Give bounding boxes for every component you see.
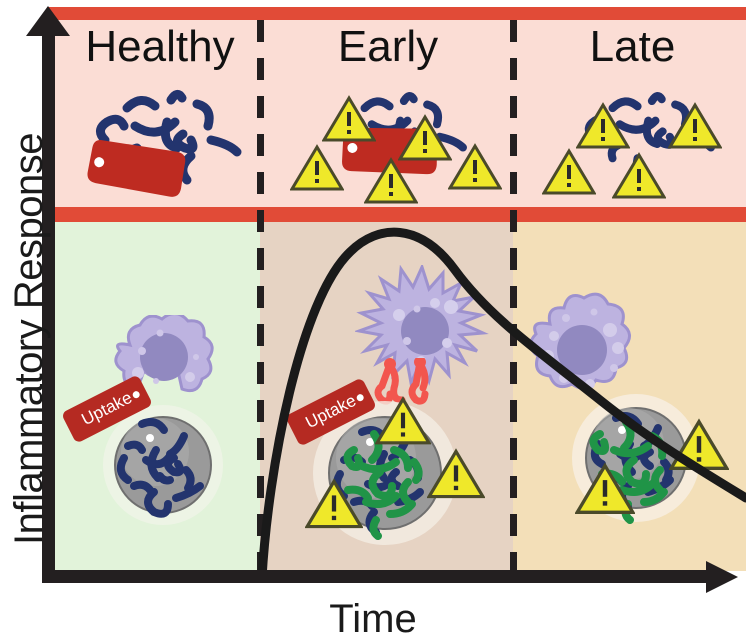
warning-triangle-icon <box>290 144 344 192</box>
warning-triangle-icon <box>427 448 485 500</box>
warning-triangle-icon <box>305 478 363 530</box>
x-axis-line <box>42 570 720 583</box>
stage-divider-healthy-early <box>257 20 264 571</box>
warning-triangle-icon <box>576 102 630 150</box>
warning-triangle-icon <box>375 396 431 446</box>
warning-triangle-icon <box>542 148 596 196</box>
inflammatory-response-schematic: Uptake <box>0 0 746 644</box>
warning-triangle-icon <box>398 114 452 162</box>
x-axis-label: Time <box>0 596 746 642</box>
strip-bottom-bar <box>47 207 746 222</box>
y-axis-arrow-icon <box>26 6 70 36</box>
warning-triangle-icon <box>448 143 502 191</box>
stage-title-early: Early <box>268 18 508 76</box>
warning-triangle-icon <box>612 152 666 200</box>
x-axis-arrow-icon <box>706 561 738 593</box>
stage-divider-early-late <box>510 20 517 571</box>
warning-triangle-icon <box>364 157 418 205</box>
warning-triangle-icon <box>322 95 376 143</box>
warning-triangle-icon <box>575 462 635 516</box>
stage-title-healthy: Healthy <box>60 18 260 76</box>
red-tag-healthy-icon <box>85 135 195 197</box>
stage-title-late: Late <box>520 18 745 76</box>
y-axis-label: Inflammatory Response <box>6 79 52 599</box>
warning-triangle-icon <box>669 418 729 472</box>
warning-triangle-icon <box>668 102 722 150</box>
